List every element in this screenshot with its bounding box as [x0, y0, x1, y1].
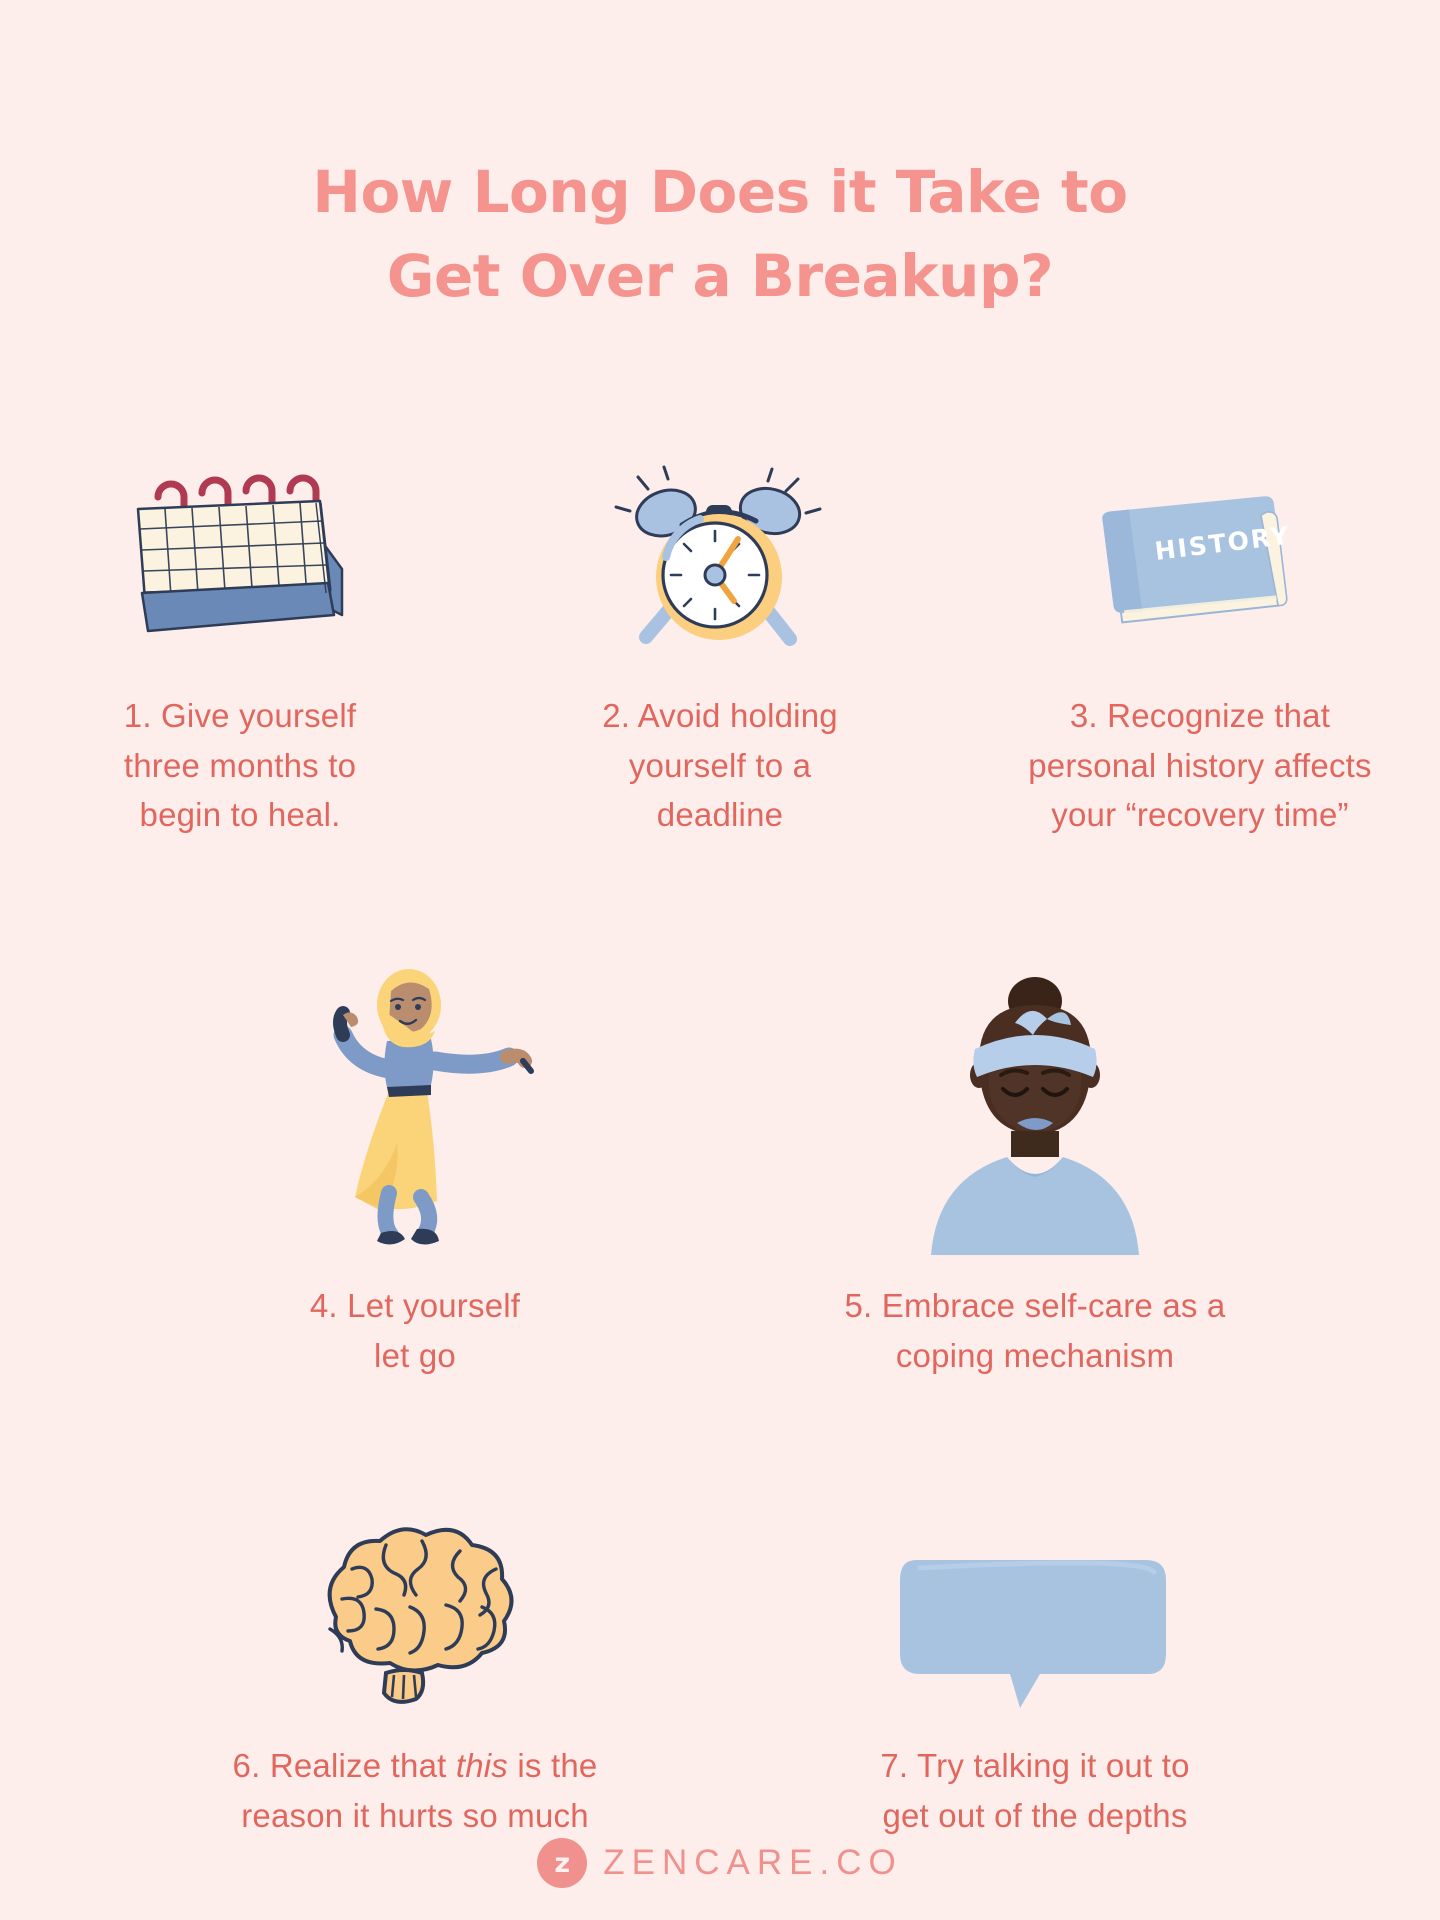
item-1-caption: 1. Give yourself three months to begin t… — [124, 691, 356, 840]
item-3-caption-line-1: 3. Recognize that — [1028, 691, 1372, 741]
zencare-logo-text: ZENCARE.CO — [603, 1843, 902, 1883]
item-3-caption-line-3: your “recovery time” — [1028, 790, 1372, 840]
items-row-2: 4. Let yourself let go — [0, 965, 1440, 1380]
item-2-caption-line-1: 2. Avoid holding — [602, 691, 838, 741]
footer-logo[interactable]: z ZENCARE.CO — [0, 1838, 1440, 1888]
item-4-caption-line-1: 4. Let yourself — [310, 1281, 520, 1331]
history-book-icon: HISTORY — [1080, 465, 1320, 665]
item-6-caption: 6. Realize that this is the reason it hu… — [233, 1741, 598, 1840]
item-4-caption-line-2: let go — [310, 1331, 520, 1381]
item-7-caption-line-1: 7. Try talking it out to — [880, 1741, 1189, 1791]
alarm-clock-icon — [610, 465, 830, 665]
items-row-1: 1. Give yourself three months to begin t… — [0, 455, 1440, 840]
item-5-caption-line-1: 5. Embrace self-care as a — [845, 1281, 1226, 1331]
item-5-caption: 5. Embrace self-care as a coping mechani… — [845, 1281, 1226, 1380]
brain-icon — [290, 1525, 540, 1715]
item-1-caption-line-1: 1. Give yourself — [124, 691, 356, 741]
item-4-caption: 4. Let yourself let go — [310, 1281, 520, 1380]
alarm-clock-art — [610, 455, 830, 665]
item-2-caption-line-2: yourself to a — [602, 741, 838, 791]
item-7-caption-line-2: get out of the depths — [880, 1791, 1189, 1841]
item-1-caption-line-2: three months to — [124, 741, 356, 791]
speech-bubble-icon — [890, 1550, 1180, 1715]
item-3-history-book: HISTORY 3. Recognize that personal histo… — [960, 455, 1440, 840]
item-2-alarm-clock: 2. Avoid holding yourself to a deadline — [480, 455, 960, 840]
item-1-calendar: 1. Give yourself three months to begin t… — [0, 455, 480, 840]
speech-bubble-art — [890, 1465, 1180, 1715]
item-2-caption-line-3: deadline — [602, 790, 838, 840]
item-1-caption-line-3: begin to heal. — [124, 790, 356, 840]
title-line-1: How Long Does it Take to — [0, 150, 1440, 234]
item-6-caption-emphasis: this — [456, 1747, 508, 1784]
item-7-speech-bubble: 7. Try talking it out to get out of the … — [725, 1465, 1345, 1840]
item-6-caption-line-1: 6. Realize that this is the — [233, 1741, 598, 1791]
items-row-3: 6. Realize that this is the reason it hu… — [0, 1465, 1440, 1840]
item-6-caption-pre: 6. Realize that — [233, 1747, 456, 1784]
brain-art — [290, 1465, 540, 1715]
item-6-caption-post: is the — [508, 1747, 597, 1784]
infographic-page: How Long Does it Take to Get Over a Brea… — [0, 0, 1440, 1920]
title-line-2: Get Over a Breakup? — [0, 234, 1440, 318]
item-6-brain: 6. Realize that this is the reason it hu… — [105, 1465, 725, 1840]
item-3-caption: 3. Recognize that personal history affec… — [1028, 691, 1372, 840]
page-title: How Long Does it Take to Get Over a Brea… — [0, 0, 1440, 318]
item-6-caption-line-2: reason it hurts so much — [233, 1791, 598, 1841]
zencare-logo-mark: z — [537, 1838, 587, 1888]
item-3-caption-line-2: personal history affects — [1028, 741, 1372, 791]
calendar-icon — [120, 465, 360, 665]
item-2-caption: 2. Avoid holding yourself to a deadline — [602, 691, 838, 840]
dancing-person-icon — [285, 965, 545, 1255]
calendar-art — [120, 455, 360, 665]
dancing-person-art — [285, 965, 545, 1255]
item-5-caption-line-2: coping mechanism — [845, 1331, 1226, 1381]
history-book-art: HISTORY — [1080, 455, 1320, 665]
item-7-caption: 7. Try talking it out to get out of the … — [880, 1741, 1189, 1840]
self-care-art — [895, 965, 1175, 1255]
self-care-face-icon — [895, 965, 1175, 1255]
item-4-dancing-person: 4. Let yourself let go — [105, 965, 725, 1380]
item-5-self-care: 5. Embrace self-care as a coping mechani… — [725, 965, 1345, 1380]
